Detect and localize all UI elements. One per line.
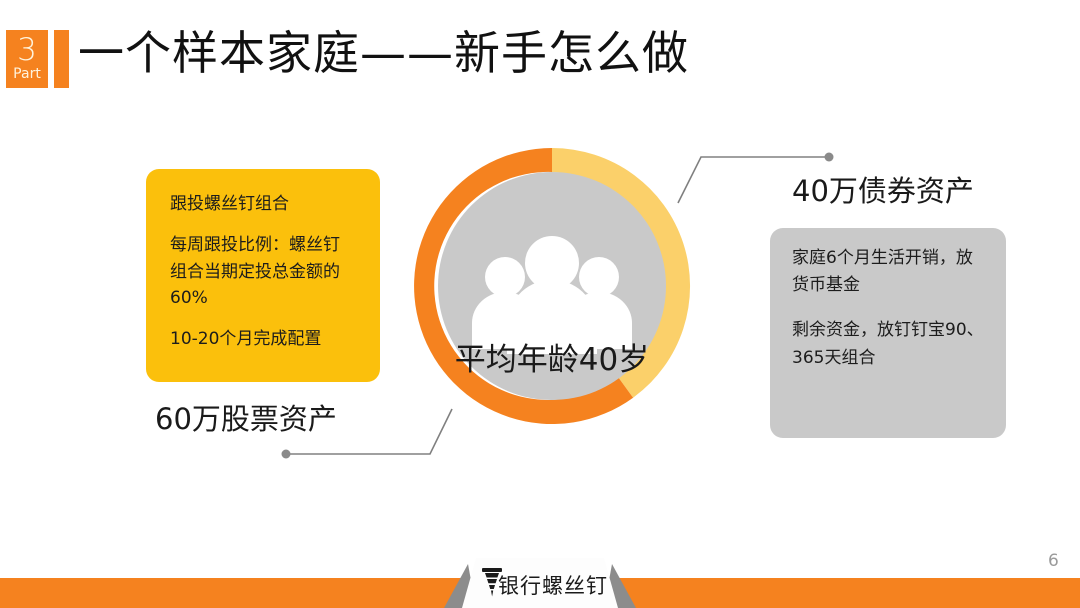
part-word: Part <box>13 67 41 81</box>
stocks-card-line-1: 跟投螺丝钉组合 <box>170 191 356 217</box>
footer-brand-text: 银行螺丝钉 <box>498 570 608 600</box>
connector-left-dot <box>282 450 291 459</box>
connector-right-dot <box>825 153 834 162</box>
page-number: 6 <box>1048 551 1059 571</box>
part-number: 3 <box>17 35 37 66</box>
donut-svg <box>404 138 700 434</box>
title-accent-bar <box>54 30 69 88</box>
page-title: 一个样本家庭——新手怎么做 <box>78 24 689 84</box>
bonds-detail-card: 家庭6个月生活开销，放货币基金 剩余资金，放钉钉宝90、365天组合 <box>770 228 1006 438</box>
bonds-card-line-1: 家庭6个月生活开销，放货币基金 <box>792 245 984 299</box>
donut-center-label: 平均年龄40岁 <box>404 334 700 379</box>
stocks-detail-card: 跟投螺丝钉组合 每周跟投比例：螺丝钉组合当期定投总金额的60% 10-20个月完… <box>146 169 380 382</box>
stocks-card-line-3: 10-20个月完成配置 <box>170 326 356 352</box>
donut-chart: 平均年龄40岁 <box>404 138 700 434</box>
slide-canvas: 3 Part 一个样本家庭——新手怎么做 <box>0 0 1080 608</box>
bonds-card-line-2: 剩余资金，放钉钉宝90、365天组合 <box>792 317 984 371</box>
stocks-card-line-2: 每周跟投比例：螺丝钉组合当期定投总金额的60% <box>170 232 356 311</box>
left-segment-label: 60万股票资产 <box>155 396 337 438</box>
part-number-badge: 3 Part <box>6 30 48 88</box>
right-segment-label: 40万债券资产 <box>792 168 974 210</box>
